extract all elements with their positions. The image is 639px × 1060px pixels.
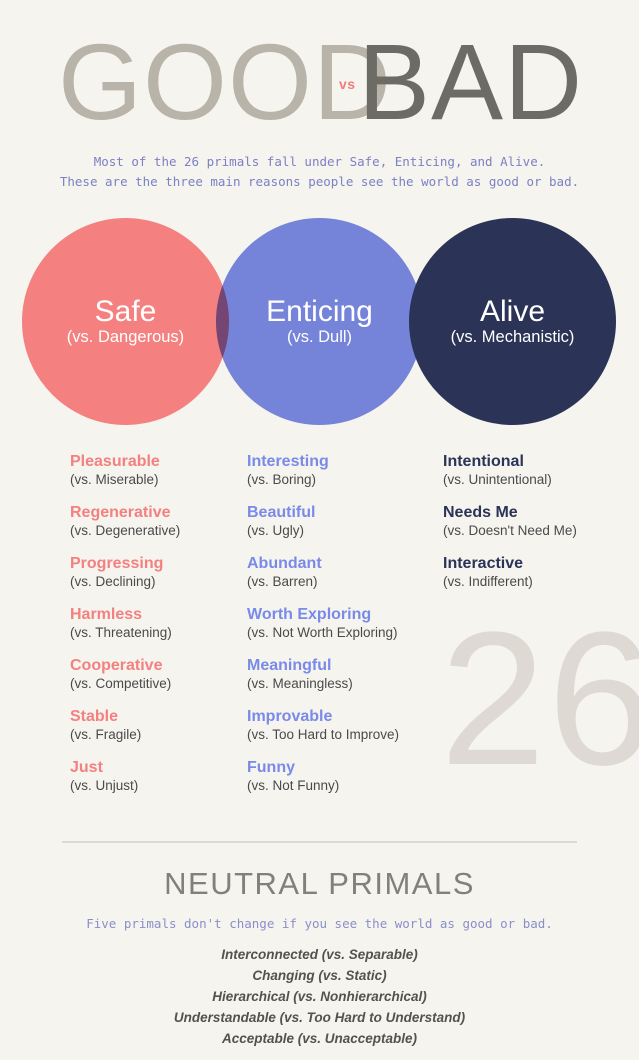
- primal-positive-label: Beautiful: [247, 503, 443, 522]
- primal-negative-label: (vs. Declining): [70, 573, 245, 590]
- primal-positive-label: Pleasurable: [70, 452, 245, 471]
- primal-positive-label: Needs Me: [443, 503, 639, 522]
- primal-item: Funny(vs. Not Funny): [247, 758, 443, 794]
- primal-positive-label: Stable: [70, 707, 245, 726]
- primal-item: Harmless(vs. Threatening): [70, 605, 245, 641]
- neutral-primal-item: Hierarchical (vs. Nonhierarchical): [0, 986, 639, 1007]
- primal-item: Abundant(vs. Barren): [247, 554, 443, 590]
- title-vs-label: vs: [339, 76, 356, 92]
- neutral-primal-item: Interconnected (vs. Separable): [0, 944, 639, 965]
- primal-negative-label: (vs. Competitive): [70, 675, 245, 692]
- primal-columns: Pleasurable(vs. Miserable)Regenerative(v…: [0, 452, 639, 812]
- primal-positive-label: Regenerative: [70, 503, 245, 522]
- primal-positive-label: Interactive: [443, 554, 639, 573]
- primal-positive-label: Progressing: [70, 554, 245, 573]
- venn-diagram: Safe (vs. Dangerous) Enticing (vs. Dull)…: [0, 218, 639, 428]
- primal-item: Interactive(vs. Indifferent): [443, 554, 639, 590]
- neutral-primals-heading: NEUTRAL PRIMALS: [0, 866, 639, 902]
- venn-circle-safe: [22, 218, 229, 425]
- primal-positive-label: Intentional: [443, 452, 639, 471]
- neutral-primal-item: Understandable (vs. Too Hard to Understa…: [0, 1007, 639, 1028]
- primal-negative-label: (vs. Unintentional): [443, 471, 639, 488]
- venn-circle-alive: [409, 218, 616, 425]
- primal-positive-label: Harmless: [70, 605, 245, 624]
- primal-negative-label: (vs. Not Worth Exploring): [247, 624, 443, 641]
- primal-positive-label: Funny: [247, 758, 443, 777]
- primal-column-enticing: Interesting(vs. Boring)Beautiful(vs. Ugl…: [247, 452, 443, 809]
- title-bad: BAD: [358, 28, 583, 136]
- primal-negative-label: (vs. Threatening): [70, 624, 245, 641]
- primal-negative-label: (vs. Meaningless): [247, 675, 443, 692]
- venn-circle-enticing: [216, 218, 423, 425]
- primal-negative-label: (vs. Not Funny): [247, 777, 443, 794]
- primal-item: Needs Me(vs. Doesn't Need Me): [443, 503, 639, 539]
- primal-negative-label: (vs. Miserable): [70, 471, 245, 488]
- primal-column-safe: Pleasurable(vs. Miserable)Regenerative(v…: [70, 452, 245, 809]
- neutral-primals-subtitle: Five primals don't change if you see the…: [0, 916, 639, 931]
- primal-item: Stable(vs. Fragile): [70, 707, 245, 743]
- primal-positive-label: Meaningful: [247, 656, 443, 675]
- primal-positive-label: Just: [70, 758, 245, 777]
- primal-column-alive: Intentional(vs. Unintentional)Needs Me(v…: [443, 452, 639, 605]
- primal-positive-label: Improvable: [247, 707, 443, 726]
- primal-negative-label: (vs. Too Hard to Improve): [247, 726, 443, 743]
- section-divider: [62, 841, 577, 843]
- primal-negative-label: (vs. Indifferent): [443, 573, 639, 590]
- neutral-primals-list: Interconnected (vs. Separable)Changing (…: [0, 944, 639, 1049]
- primal-item: Progressing(vs. Declining): [70, 554, 245, 590]
- primal-item: Interesting(vs. Boring): [247, 452, 443, 488]
- title-block: GOOD BAD vs: [0, 0, 639, 150]
- primal-item: Cooperative(vs. Competitive): [70, 656, 245, 692]
- primal-positive-label: Abundant: [247, 554, 443, 573]
- primal-item: Just(vs. Unjust): [70, 758, 245, 794]
- subtitle-line-2: These are the three main reasons people …: [0, 172, 639, 192]
- primal-negative-label: (vs. Degenerative): [70, 522, 245, 539]
- primal-item: Pleasurable(vs. Miserable): [70, 452, 245, 488]
- subtitle-line-1: Most of the 26 primals fall under Safe, …: [0, 152, 639, 172]
- primal-item: Worth Exploring(vs. Not Worth Exploring): [247, 605, 443, 641]
- primal-positive-label: Interesting: [247, 452, 443, 471]
- primal-item: Improvable(vs. Too Hard to Improve): [247, 707, 443, 743]
- primal-negative-label: (vs. Boring): [247, 471, 443, 488]
- primal-positive-label: Worth Exploring: [247, 605, 443, 624]
- primal-negative-label: (vs. Doesn't Need Me): [443, 522, 639, 539]
- primal-negative-label: (vs. Barren): [247, 573, 443, 590]
- primal-negative-label: (vs. Unjust): [70, 777, 245, 794]
- primal-item: Regenerative(vs. Degenerative): [70, 503, 245, 539]
- primal-item: Meaningful(vs. Meaningless): [247, 656, 443, 692]
- primal-item: Intentional(vs. Unintentional): [443, 452, 639, 488]
- neutral-primal-item: Changing (vs. Static): [0, 965, 639, 986]
- primal-item: Beautiful(vs. Ugly): [247, 503, 443, 539]
- primal-negative-label: (vs. Ugly): [247, 522, 443, 539]
- primal-negative-label: (vs. Fragile): [70, 726, 245, 743]
- neutral-primal-item: Acceptable (vs. Unacceptable): [0, 1028, 639, 1049]
- primal-positive-label: Cooperative: [70, 656, 245, 675]
- subtitle: Most of the 26 primals fall under Safe, …: [0, 152, 639, 192]
